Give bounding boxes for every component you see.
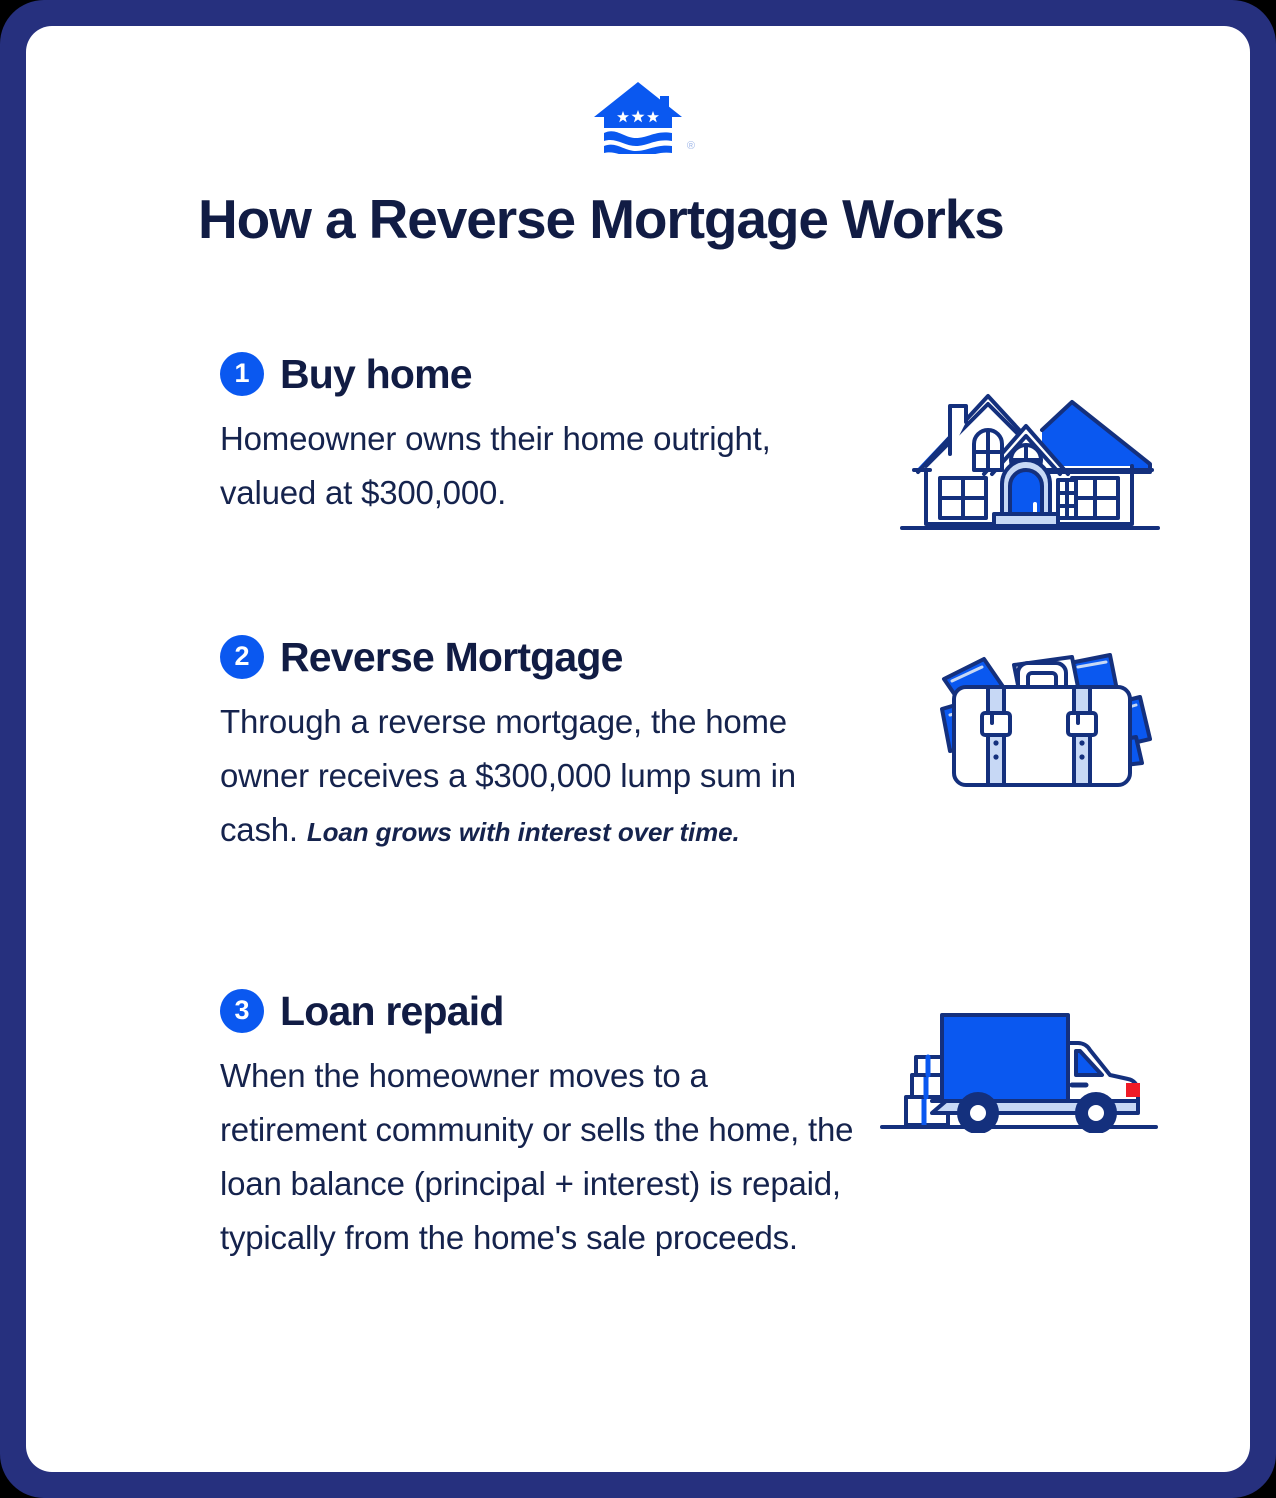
house-illustration: [896, 352, 1162, 538]
registered-trademark-icon: ®: [687, 141, 695, 152]
step-3-title: Loan repaid: [280, 991, 504, 1032]
step-3-number-badge: 3: [220, 989, 264, 1033]
moving-truck-illustration: [874, 989, 1162, 1133]
page-title: How a Reverse Mortgage Works: [198, 189, 1158, 251]
step-2-number-badge: 2: [220, 635, 264, 679]
step-3-body: When the homeowner moves to a retirement…: [220, 1049, 858, 1265]
step-1-body: Homeowner owns their home outright, valu…: [220, 412, 858, 520]
step-buy-home: 1 Buy home Homeowner owns their home out…: [198, 352, 1162, 538]
step-loan-repaid: 3 Loan repaid When the homeowner moves t…: [198, 989, 1162, 1265]
infographic-frame: ® How a Reverse Mortgage Works 1 Buy hom…: [0, 0, 1276, 1498]
step-1-text: 1 Buy home Homeowner owns their home out…: [198, 352, 858, 520]
step-1-number-badge: 1: [220, 352, 264, 396]
step-3-heading: 3 Loan repaid: [220, 989, 858, 1033]
step-reverse-mortgage: 2 Reverse Mortgage Through a reverse mor…: [198, 635, 1162, 857]
step-1-title: Buy home: [280, 354, 472, 395]
step-2-body-note: Loan grows with interest over time.: [307, 817, 740, 847]
brand-logo: ®: [26, 80, 1250, 154]
step-3-text: 3 Loan repaid When the homeowner moves t…: [198, 989, 858, 1265]
step-2-body: Through a reverse mortgage, the home own…: [220, 695, 858, 857]
infographic-card: ® How a Reverse Mortgage Works 1 Buy hom…: [26, 26, 1250, 1472]
step-2-title: Reverse Mortgage: [280, 637, 623, 678]
step-2-text: 2 Reverse Mortgage Through a reverse mor…: [198, 635, 858, 857]
step-2-heading: 2 Reverse Mortgage: [220, 635, 858, 679]
house-logo-icon: ®: [590, 80, 686, 154]
step-1-heading: 1 Buy home: [220, 352, 858, 396]
suitcase-of-cash-illustration: [922, 635, 1162, 797]
